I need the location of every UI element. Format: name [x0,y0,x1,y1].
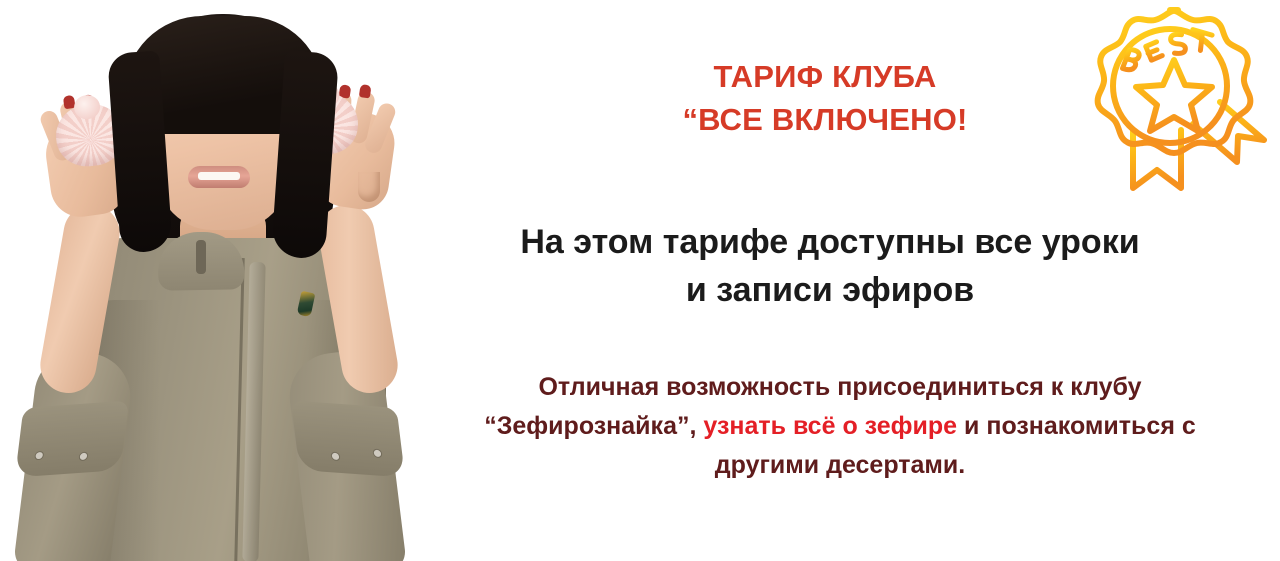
zephyr-swirl-top [73,94,101,121]
nose [358,172,380,202]
cuff-button [332,453,340,460]
cuff-button [35,452,43,459]
cuff-button [79,453,87,460]
body-description: Отличная возможность присоединиться к кл… [460,368,1220,485]
page-title: На этом тарифе доступны все уроки и запи… [450,218,1210,314]
pastry-chef-photo [0,0,440,561]
medal-star [1136,60,1212,131]
award-ribbon-icon [1062,2,1278,198]
best-award-badge [1062,2,1278,198]
body-highlight: узнать всё о зефире [703,412,957,440]
lips [188,166,250,188]
teeth [198,172,240,180]
cuff-right [291,401,405,478]
cuff-button [373,450,381,457]
fingernail [359,84,372,98]
promo-banner: ТАРИФ КЛУБА “ВСЕ ВКЛЮЧЕНО! На этом тариф… [0,0,1280,561]
jacket-collar-notch [196,240,206,274]
photo-figure [0,0,440,561]
cuff-left [15,401,129,478]
